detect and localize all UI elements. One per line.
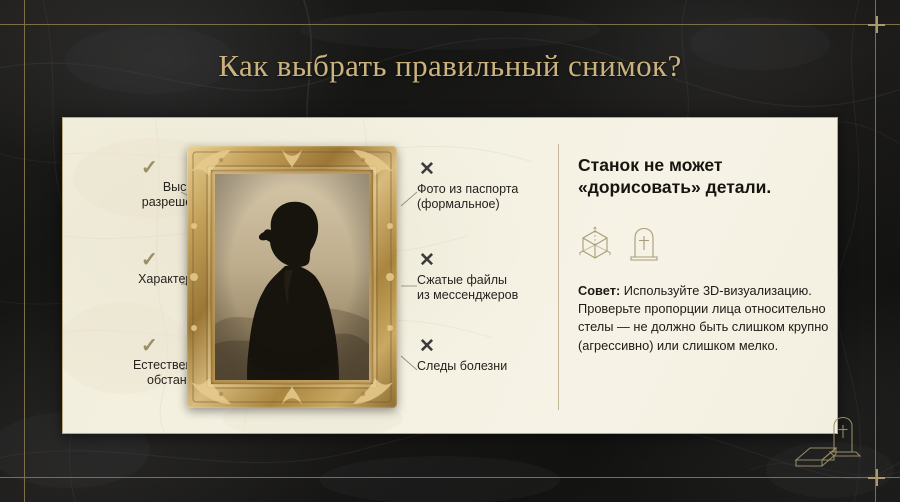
bad-item-label-3: Следы болезни [417,359,567,374]
slide-root: Как выбрать правильный снимок? [0,0,900,502]
gravestone-icon [629,226,659,262]
bad-item-label-1: Фото из паспорта (формальное) [417,182,567,212]
bad-item-label-2: Сжатые файлы из мессенджеров [417,273,567,303]
plus-marker-top-right [868,16,885,33]
page-title: Как выбрать правильный снимок? [0,48,900,84]
bad-item-line: Сжатые файлы из мессенджеров [417,273,567,303]
content-card: ✓ Высокое разрешение ✓ Характерная поза … [62,117,838,434]
guide-line-top [0,24,900,25]
check-icon-2: ✓ [141,250,158,270]
right-panel-heading: Станок не может «дорисовать» детали. [578,154,828,198]
plus-marker-bottom-right [868,469,885,486]
guide-line-bottom [0,477,900,478]
frame-mat [211,170,373,384]
check-icon-3: ✓ [141,336,158,356]
3d-cube-icon [577,226,613,262]
portrait-photo [215,174,369,380]
cross-icon-2: ✕ [419,251,435,270]
right-panel-tip: Совет: Используйте 3D-визуализацию. Пров… [578,282,830,355]
tip-label: Совет: [578,283,620,298]
right-panel-icons [577,226,659,262]
cross-icon-1: ✕ [419,160,435,179]
check-icon-1: ✓ [141,158,158,178]
portrait-frame [187,146,397,408]
bad-item-line: Фото из паспорта (формальное) [417,182,567,212]
monument-icon [792,416,864,472]
frame-moulding [187,146,397,408]
cross-icon-3: ✕ [419,337,435,356]
bad-item-line: Следы болезни [417,359,567,374]
silhouette-figure [215,174,369,380]
